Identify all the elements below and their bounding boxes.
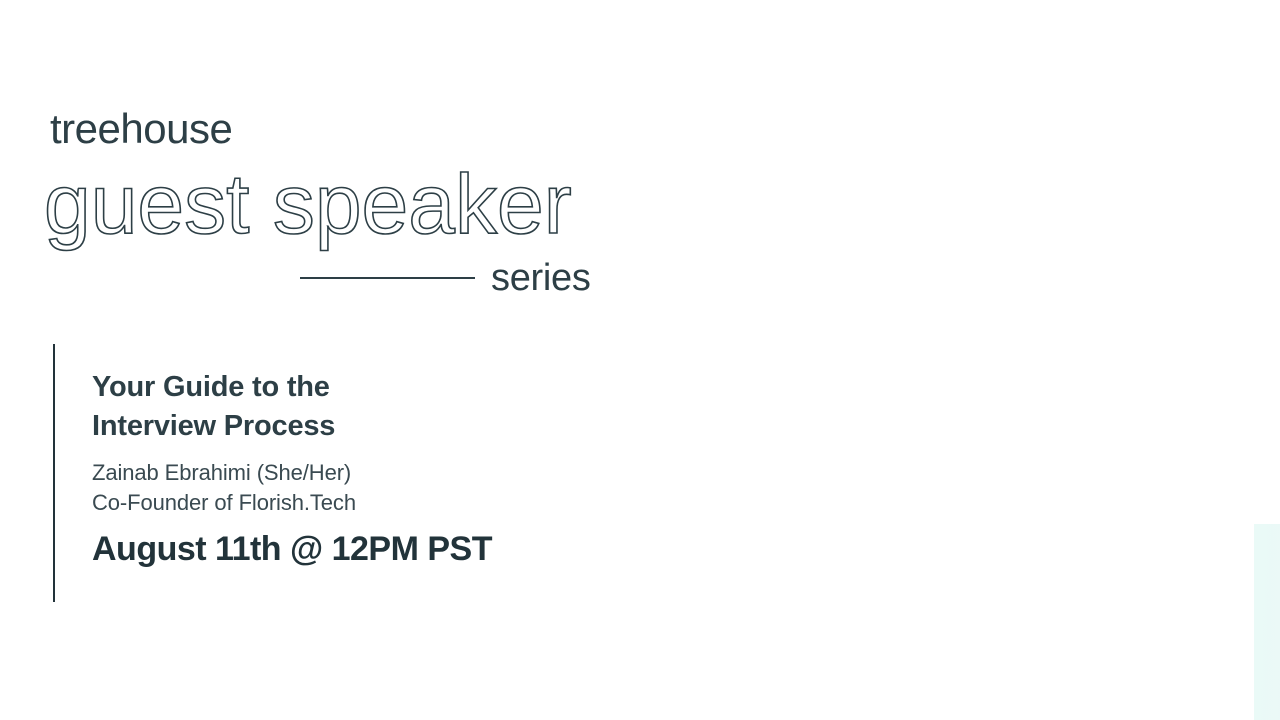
event-info-block: Your Guide to the Interview Process Zain… [92,368,652,568]
gradient-panel-bottom [1254,524,1280,720]
decorative-art-panel [620,0,1280,720]
event-datetime: August 11th @ 12PM PST [92,531,652,568]
series-label: series [491,259,591,297]
title-text-panel: treehouse guest speaker series Your Guid… [0,0,700,720]
speaker-name: Zainab Ebrahimi (She/Her) [92,458,652,487]
brand-name: treehouse [50,108,232,150]
vertical-accent-rule [53,344,55,602]
series-divider-rule [300,277,475,279]
speaker-role: Co-Founder of Florish.Tech [92,488,652,517]
series-row: series [300,254,630,302]
slide-canvas: treehouse guest speaker series Your Guid… [0,0,1280,720]
talk-title: Your Guide to the Interview Process [92,368,652,445]
headline-outline-text: guest speaker [44,160,572,248]
